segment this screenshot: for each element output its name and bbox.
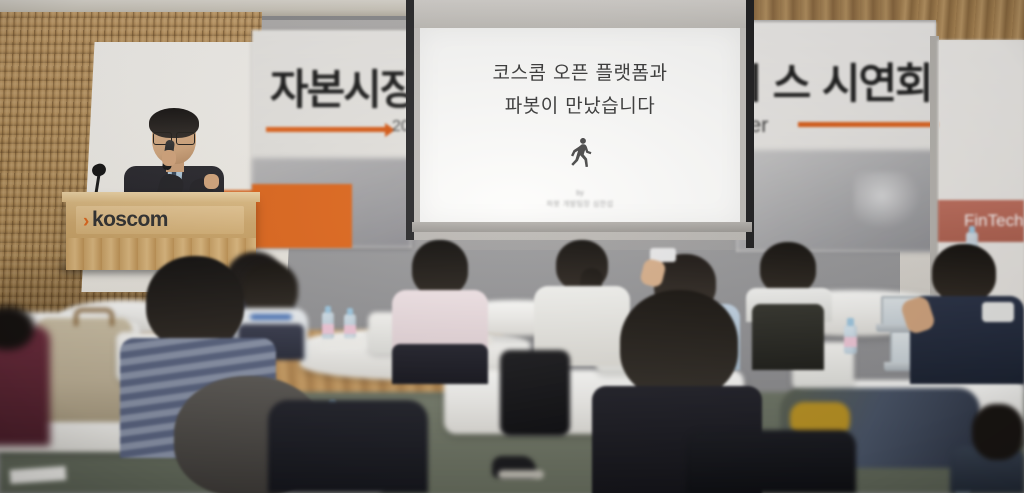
speaker-hand-right	[204, 174, 219, 189]
attendee-far-right-head	[972, 404, 1024, 460]
koscom-chevron-icon: ›	[83, 211, 89, 233]
attendee-front-right	[686, 430, 856, 493]
attendee-front-navy	[268, 400, 428, 493]
projected-slide: 코스콤 오픈 플랫폼과 파봇이 만났습니다 by 파봇 개발팀장 심한섭	[420, 28, 740, 222]
attendee-navy-sweater	[910, 244, 1024, 384]
slide-title-line2: 파봇이 만났습니다	[420, 91, 740, 118]
screen-bottom-bar	[412, 222, 752, 232]
slide-title-line1: 코스콤 오픈 플랫폼과	[420, 58, 740, 85]
banner-right-accent-line	[798, 122, 948, 127]
attendee-skirt	[392, 344, 488, 384]
attendee-pink-shirt	[392, 240, 488, 380]
glass-glint	[854, 172, 924, 232]
running-figure-icon	[567, 136, 593, 177]
podium-top-surface	[62, 192, 260, 202]
shirt-collar	[982, 302, 1014, 322]
projection-screen-case	[412, 0, 752, 28]
orange-accent-block	[252, 184, 352, 248]
screen-edge-right	[746, 0, 754, 248]
banner-left-title: 자본시장	[270, 56, 417, 117]
banner-left-accent-line	[266, 127, 386, 132]
fintech-band: FinTech	[938, 200, 1024, 242]
vest	[752, 304, 824, 370]
notebook	[320, 337, 367, 351]
banner-right: ㅣ스 시연회 nter	[736, 22, 936, 252]
bag-handle	[74, 308, 114, 326]
screen-edge-left	[406, 0, 414, 240]
banner-right-title: ㅣ스 시연회	[736, 50, 932, 111]
seminar-photo: 자본시장 2017 nter ㅣ스 시연회 nter FinTech 코스콤 오…	[0, 0, 1024, 493]
koscom-logo-text: koscom	[92, 208, 168, 232]
water-bottle	[344, 308, 356, 340]
speaker-hand-left	[162, 150, 176, 166]
shoe-sole	[498, 470, 544, 479]
water-bottle	[322, 306, 334, 340]
jacket-on-chair	[500, 350, 570, 436]
slide-author: 파봇 개발팀장 심한섭	[420, 199, 740, 209]
slide-by-label: by	[420, 190, 740, 197]
water-bottle	[844, 318, 857, 354]
